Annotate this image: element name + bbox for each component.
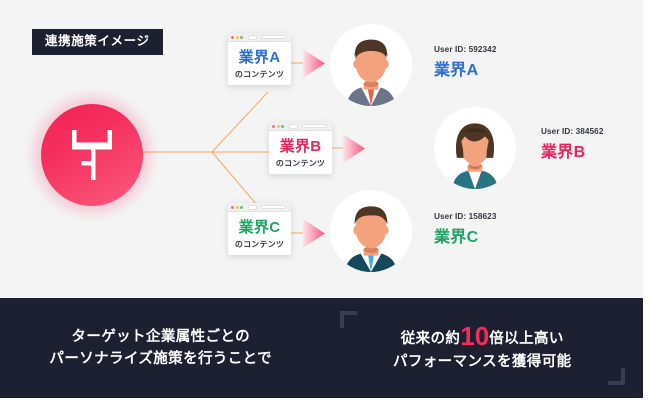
window-titlebar — [269, 122, 332, 131]
content-subtitle: のコンテンツ — [234, 239, 285, 250]
corner-bracket-bottom-right — [608, 368, 625, 385]
avatar — [330, 190, 412, 272]
arrow-right-icon-a — [302, 48, 332, 80]
footer-left-line1: ターゲット企業属性ごとの — [71, 326, 250, 348]
footer-right-line1: 従来の約10倍以上高い — [401, 323, 564, 350]
horned-t-icon — [69, 130, 115, 180]
minimize-dot-icon[interactable] — [236, 36, 239, 39]
logo-circle — [41, 104, 143, 206]
footer-banner: ターゲット企業属性ごとの パーソナライズ施策を行うことで 従来の約10倍以上高い… — [0, 298, 643, 398]
arrow-right-icon-c — [302, 218, 332, 250]
tab-chip[interactable] — [289, 124, 298, 129]
content-subtitle: のコンテンツ — [234, 69, 285, 80]
content-subtitle: のコンテンツ — [275, 158, 326, 169]
avatar — [330, 24, 412, 106]
footer-right: 従来の約10倍以上高い パフォーマンスを獲得可能 — [322, 298, 644, 398]
arrow-right-icon-b — [342, 133, 372, 165]
window-titlebar — [228, 203, 291, 212]
maximize-dot-icon[interactable] — [240, 206, 243, 209]
user-id: User ID: 592342 — [434, 45, 497, 54]
bottom-margin — [0, 398, 650, 402]
maximize-dot-icon[interactable] — [240, 36, 243, 39]
footer-right-line1-post: 倍以上高い — [489, 331, 564, 347]
window-content: 業界B のコンテンツ — [269, 131, 332, 174]
content-window-b[interactable]: 業界B のコンテンツ — [269, 122, 332, 174]
segment-name: 業界A — [434, 56, 497, 80]
footer-right-line2: パフォーマンスを獲得可能 — [393, 351, 572, 373]
footer-left-line2: パーソナライズ施策を行うことで — [49, 348, 272, 370]
close-dot-icon[interactable] — [272, 125, 275, 128]
content-title: 業界B — [275, 139, 326, 155]
segment-name: 業界B — [541, 138, 604, 162]
content-window-a[interactable]: 業界A のコンテンツ — [228, 33, 291, 85]
user-id: User ID: 158623 — [434, 212, 497, 221]
avatar — [434, 107, 516, 189]
window-content: 業界A のコンテンツ — [228, 42, 291, 85]
content-title: 業界A — [234, 50, 285, 66]
tab-chip[interactable] — [248, 35, 257, 40]
infographic-canvas: 連携施策イメージ 業界A の — [0, 0, 650, 402]
user-id: User ID: 384562 — [541, 127, 604, 136]
person-label-b: User ID: 384562 業界B — [541, 127, 604, 162]
close-dot-icon[interactable] — [231, 36, 234, 39]
footer-highlight-number: 10 — [460, 321, 489, 351]
address-bar[interactable] — [302, 124, 327, 129]
address-bar[interactable] — [261, 205, 286, 210]
content-title: 業界C — [234, 220, 285, 236]
female-business-avatar-icon — [434, 107, 516, 189]
minimize-dot-icon[interactable] — [236, 206, 239, 209]
maximize-dot-icon[interactable] — [281, 125, 284, 128]
footer-left: ターゲット企業属性ごとの パーソナライズ施策を行うことで — [0, 298, 322, 398]
male-business-avatar-icon — [330, 24, 412, 106]
window-titlebar — [228, 33, 291, 42]
minimize-dot-icon[interactable] — [277, 125, 280, 128]
brand-logo — [41, 104, 143, 206]
right-margin — [643, 0, 650, 402]
segment-name: 業界C — [434, 223, 497, 247]
footer-right-line1-pre: 従来の約 — [401, 331, 461, 347]
close-dot-icon[interactable] — [231, 206, 234, 209]
tab-chip[interactable] — [248, 205, 257, 210]
person-label-a: User ID: 592342 業界A — [434, 45, 497, 80]
person-label-c: User ID: 158623 業界C — [434, 212, 497, 247]
window-content: 業界C のコンテンツ — [228, 212, 291, 255]
male-business-avatar-2-icon — [330, 190, 412, 272]
content-window-c[interactable]: 業界C のコンテンツ — [228, 203, 291, 255]
address-bar[interactable] — [261, 35, 286, 40]
corner-bracket-top-left — [340, 311, 357, 328]
